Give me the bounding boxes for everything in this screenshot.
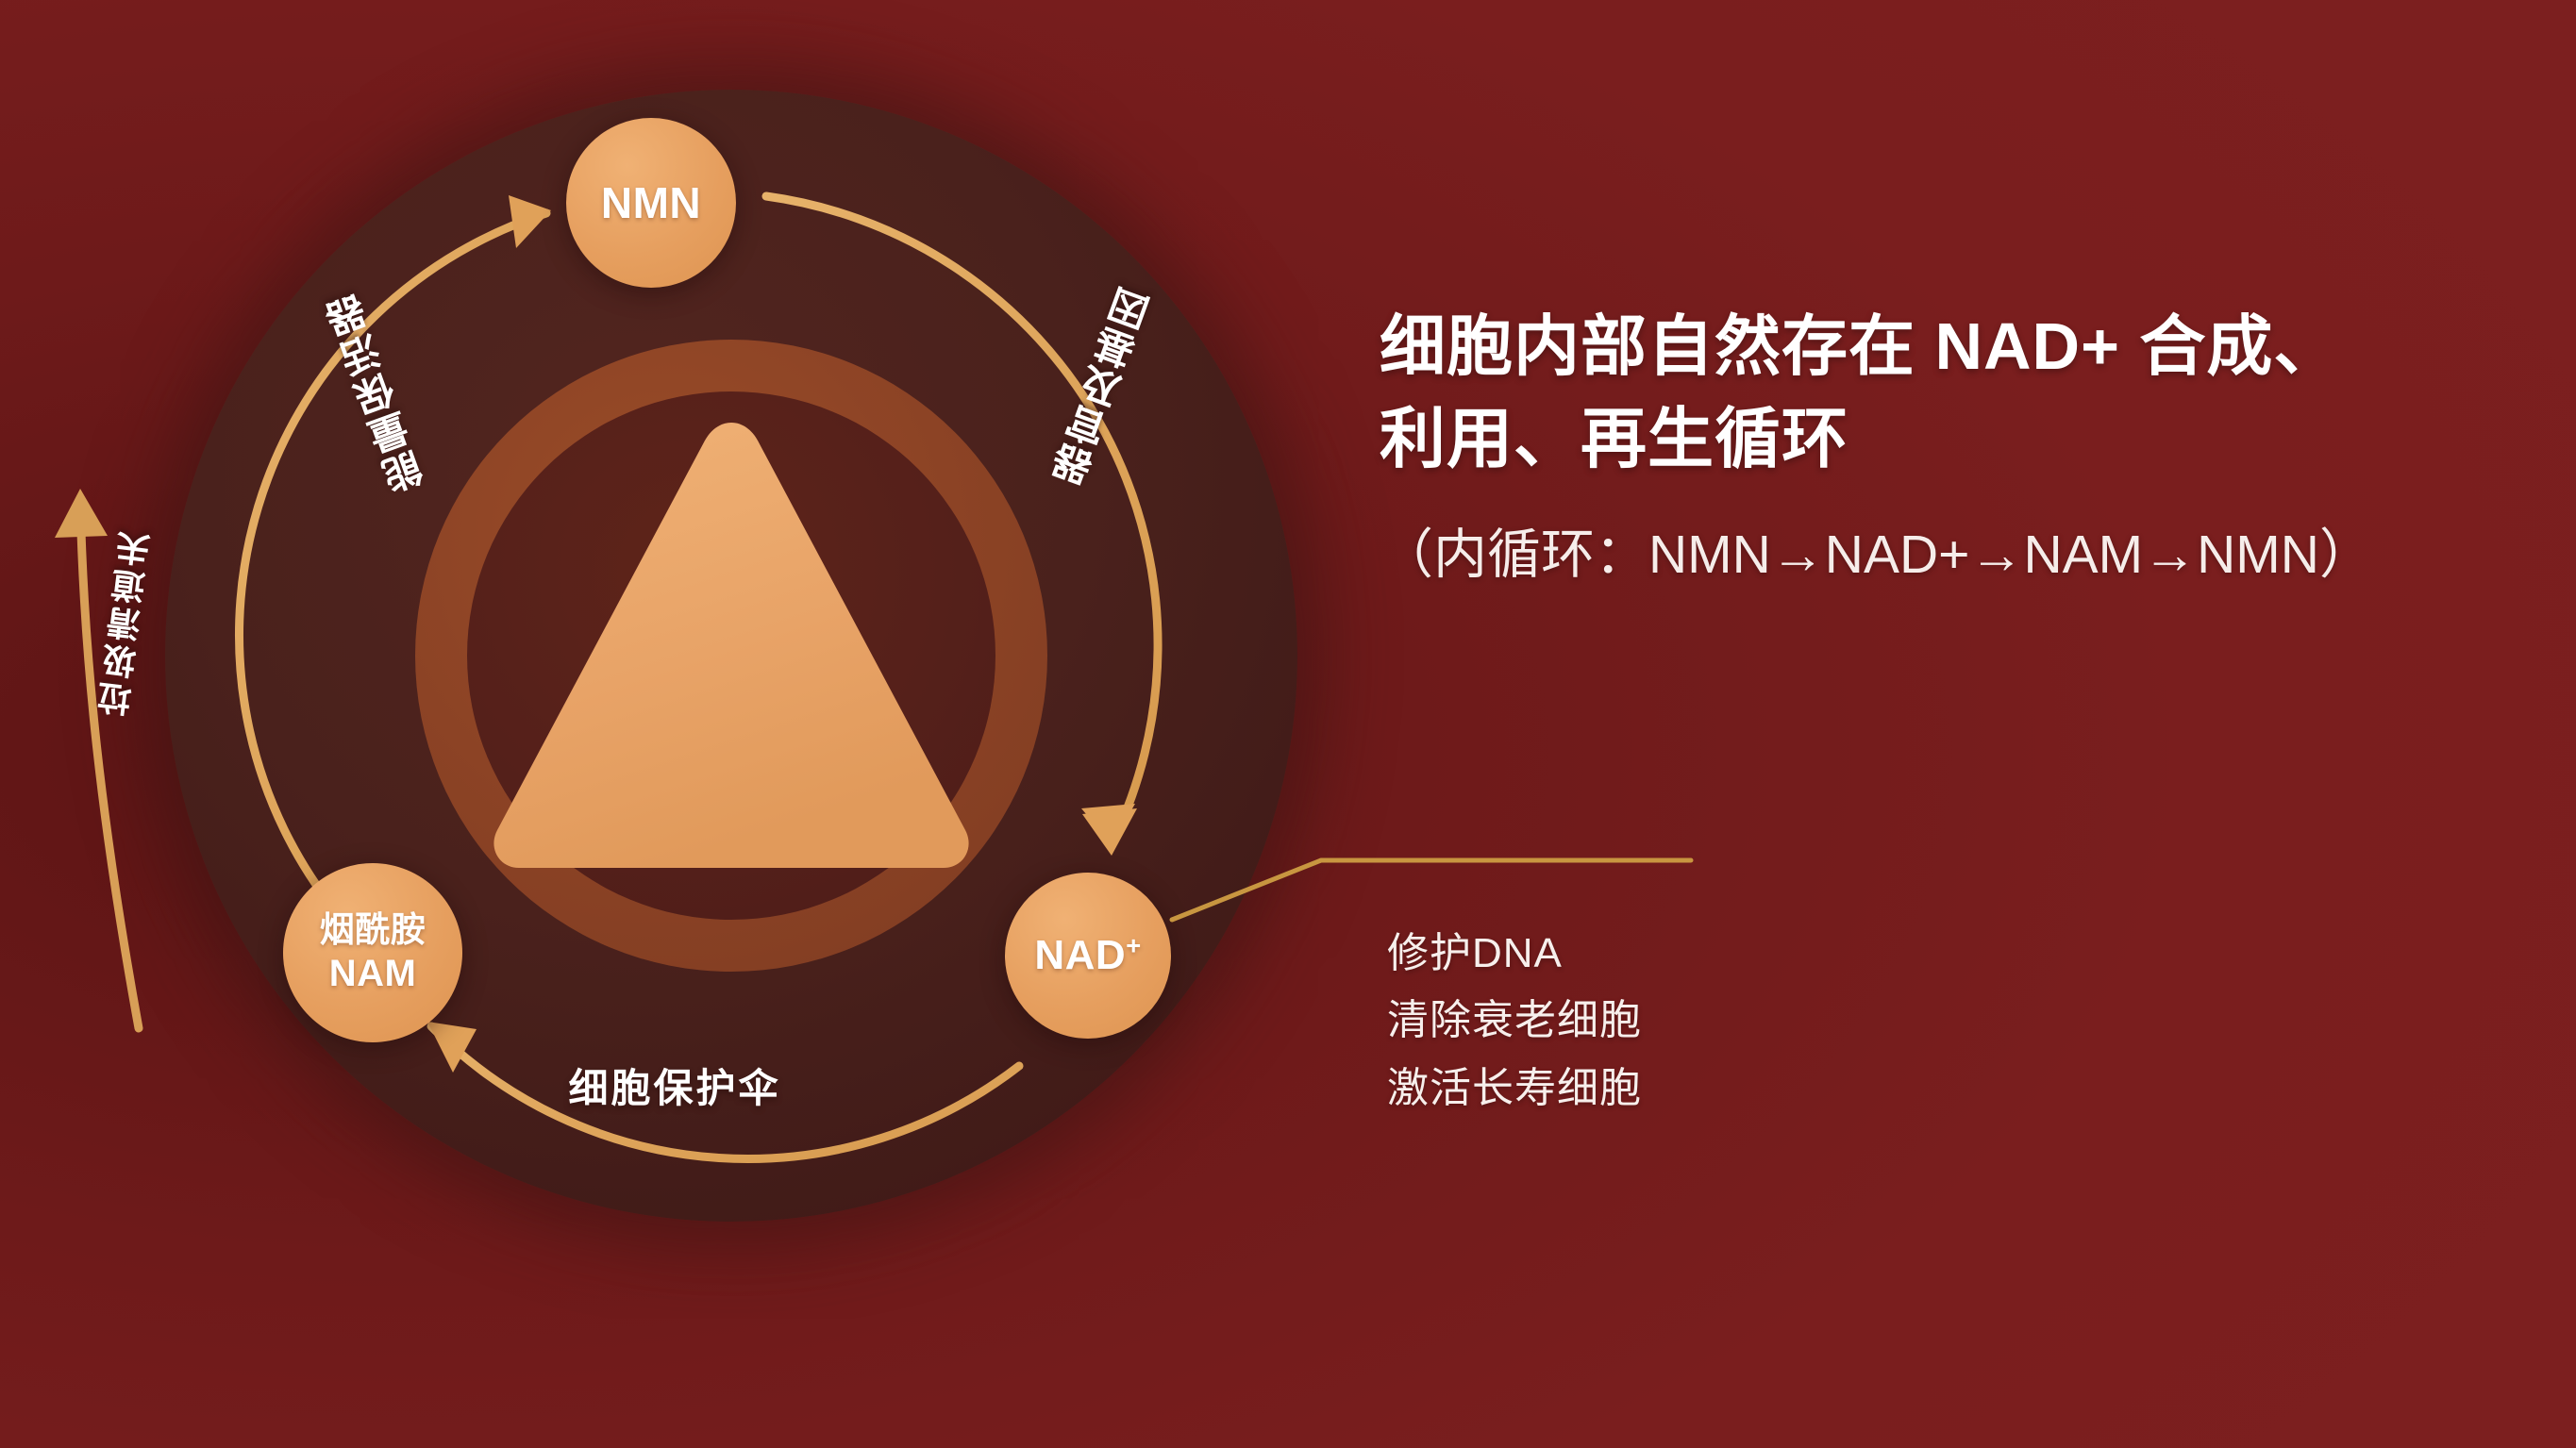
benefits-list: 修护DNA 清除衰老细胞 激活长寿细胞 bbox=[1387, 920, 1642, 1122]
nad-cycle-diagram: NMN NAD+ 烟酰胺 NAM 能量保活器 器官及基因 细胞保护伞 bbox=[165, 90, 1297, 1222]
node-nad[interactable]: NAD+ bbox=[1005, 873, 1171, 1039]
slide-canvas: NMN NAD+ 烟酰胺 NAM 能量保活器 器官及基因 细胞保护伞 垃圾清道夫… bbox=[0, 0, 2576, 1448]
headline-line-1: 细胞内部自然存在 NAD+ 合成、 bbox=[1380, 309, 2340, 383]
node-nam-label-en: NAM bbox=[329, 951, 417, 997]
headline-line-2: 利用、再生循环 bbox=[1380, 402, 1848, 475]
subtitle: （内循环：NMN→NAD+→NAM→NMN） bbox=[1380, 511, 2493, 589]
node-nad-superscript: + bbox=[1126, 930, 1141, 959]
list-item: 激活长寿细胞 bbox=[1387, 1055, 1642, 1122]
node-nam[interactable]: 烟酰胺 NAM bbox=[283, 863, 462, 1042]
page-title: 细胞内部自然存在 NAD+ 合成、 利用、再生循环 bbox=[1380, 300, 2493, 485]
node-nam-label-cn: 烟酰胺 bbox=[320, 908, 427, 951]
arrow-nam-to-nmn bbox=[239, 195, 551, 910]
node-nmn[interactable]: NMN bbox=[566, 118, 736, 288]
node-nad-label: NAD+ bbox=[1034, 932, 1141, 979]
list-item: 修护DNA bbox=[1387, 920, 1642, 987]
arc-label-bottom: 细胞保护伞 bbox=[477, 1057, 873, 1114]
copy-block: 细胞内部自然存在 NAD+ 合成、 利用、再生循环 （内循环：NMN→NAD+→… bbox=[1380, 300, 2493, 589]
node-nmn-label: NMN bbox=[601, 177, 701, 228]
list-item: 清除衰老细胞 bbox=[1387, 987, 1642, 1054]
cycle-arrows bbox=[165, 90, 1297, 1222]
arrow-nmn-to-nad bbox=[766, 196, 1158, 856]
